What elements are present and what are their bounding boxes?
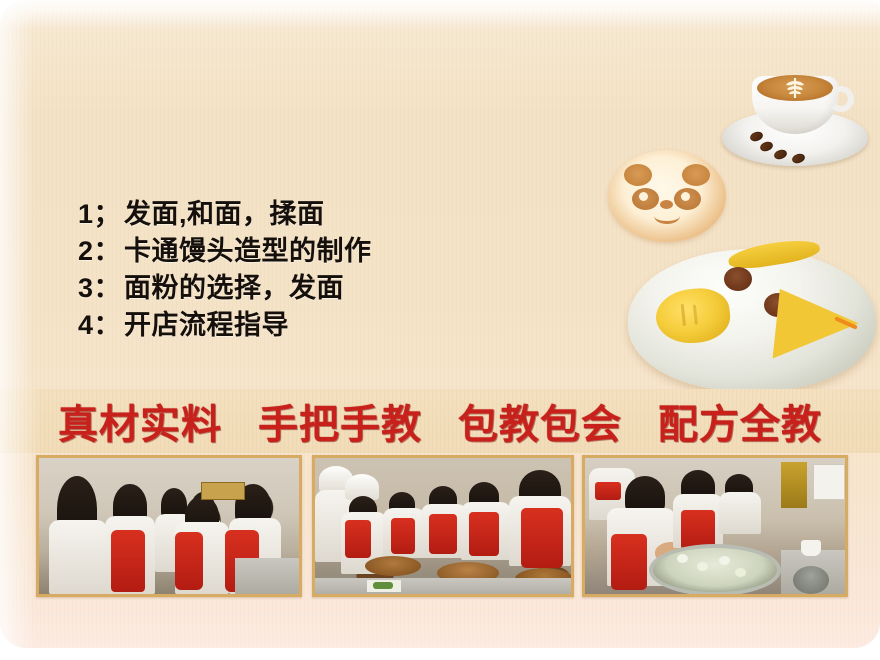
- course-list-item: 1；发面,和面，揉面: [78, 196, 548, 233]
- panda-eye-right: [674, 188, 701, 210]
- chick-shaped-steamed-mantou: [628, 243, 880, 395]
- slogan-phrase: 配方全教: [658, 392, 822, 450]
- panda-bun-body: [608, 150, 726, 242]
- chick-eye-left: [724, 267, 752, 291]
- gallery-photo-trainees-dough[interactable]: [312, 455, 574, 597]
- paper-top-highlight: [0, 0, 880, 30]
- course-item-text: 发面,和面，揉面: [124, 199, 325, 229]
- poster-root: 1；发面,和面，揉面 2：卡通馒头造型的制作 3：面粉的选择，发面 4：开店流程…: [0, 0, 880, 660]
- slogan-banner-text: 真材实料 手把手教 包教包会 配方全教: [0, 392, 880, 450]
- course-item-index: 3：: [78, 270, 124, 307]
- course-item-index: 1；: [78, 196, 124, 233]
- panda-mouth: [654, 208, 680, 224]
- course-item-text: 面粉的选择，发面: [124, 273, 344, 303]
- gallery-photo-classroom-students[interactable]: [36, 455, 302, 597]
- photo-gallery: [0, 455, 880, 597]
- slogan-phrase: 包教包会: [458, 392, 622, 450]
- chick-beak: [773, 289, 862, 367]
- course-item-text: 卡通馒头造型的制作: [124, 236, 372, 266]
- panda-eye-left: [632, 188, 659, 210]
- course-list: 1；发面,和面，揉面 2：卡通馒头造型的制作 3：面粉的选择，发面 4：开店流程…: [78, 196, 548, 344]
- course-list-item: 3：面粉的选择，发面: [78, 270, 548, 307]
- slogan-phrase: 真材实料: [58, 392, 222, 450]
- panda-face-toasted-bun: [608, 150, 726, 242]
- course-list-item: 4：开店流程指导: [78, 307, 548, 344]
- cup-handle: [828, 86, 854, 112]
- latte-art-leaf-icon: [780, 77, 810, 99]
- course-item-index: 4：: [78, 307, 124, 344]
- course-list-item: 2：卡通馒头造型的制作: [78, 233, 548, 270]
- panda-ear-left: [624, 164, 652, 186]
- course-item-index: 2：: [78, 233, 124, 270]
- course-item-text: 开店流程指导: [124, 310, 289, 340]
- panda-ear-right: [682, 164, 710, 186]
- gallery-photo-steamer-loading[interactable]: [582, 455, 848, 597]
- slogan-phrase: 手把手教: [258, 392, 422, 450]
- latte-art-coffee-cup: [716, 62, 874, 172]
